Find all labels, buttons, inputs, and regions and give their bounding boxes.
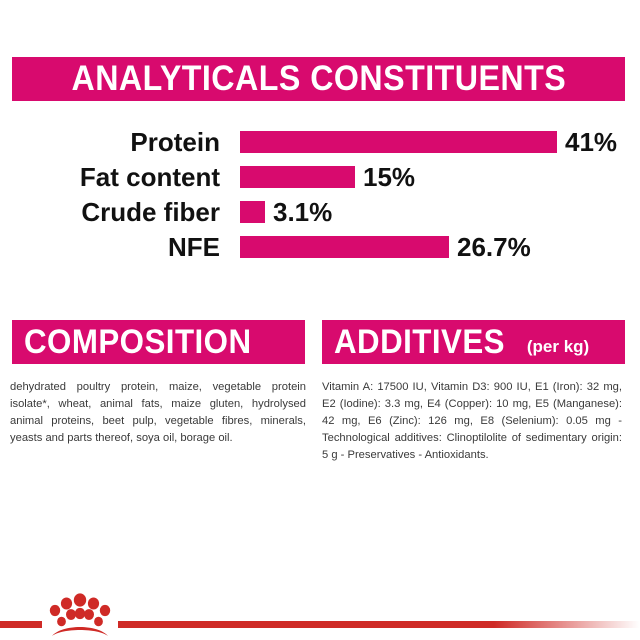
footer-brand-bar <box>0 575 640 640</box>
additives-subtitle-per-kg: (per kg) <box>527 337 589 357</box>
additives-title: ADDITIVES <box>334 320 505 364</box>
bar-value-crude-fiber: 3.1% <box>273 199 332 225</box>
bar-value-fat-content: 15% <box>363 164 415 190</box>
royal-canin-crown-icon <box>44 593 116 639</box>
bar-fill-fat-content <box>240 166 355 188</box>
footer-rule-left <box>0 621 42 628</box>
composition-banner: COMPOSITION <box>12 320 305 364</box>
product-info-panel: ANALYTICALS CONSTITUENTS Protein 41% Fat… <box>0 0 640 640</box>
bar-track-crude-fiber: 3.1% <box>240 199 640 225</box>
bar-label-crude-fiber: Crude fiber <box>0 199 220 225</box>
additives-details-text: Vitamin A: 17500 IU, Vitamin D3: 900 IU,… <box>322 379 622 464</box>
bar-label-protein: Protein <box>0 129 220 155</box>
bar-row: Crude fiber 3.1% <box>0 194 640 229</box>
bar-value-protein: 41% <box>565 129 617 155</box>
bar-row: NFE 26.7% <box>0 229 640 264</box>
bar-fill-nfe <box>240 236 449 258</box>
analyticals-constituents-title: ANALYTICALS CONSTITUENTS <box>71 57 566 101</box>
bar-fill-crude-fiber <box>240 201 265 223</box>
bar-value-nfe: 26.7% <box>457 234 531 260</box>
bar-row: Protein 41% <box>0 124 640 159</box>
bar-label-fat-content: Fat content <box>0 164 220 190</box>
bar-fill-protein <box>240 131 557 153</box>
additives-banner: ADDITIVES (per kg) <box>322 320 625 364</box>
bar-row: Fat content 15% <box>0 159 640 194</box>
analyticals-bar-chart: Protein 41% Fat content 15% Crude fiber … <box>0 124 640 284</box>
bar-track-fat-content: 15% <box>240 164 640 190</box>
composition-title: COMPOSITION <box>24 320 252 364</box>
footer-rule-right <box>118 621 640 628</box>
composition-ingredients-text: dehydrated poultry protein, maize, veget… <box>10 379 306 447</box>
bar-label-nfe: NFE <box>0 234 220 260</box>
bar-track-protein: 41% <box>240 129 640 155</box>
bar-track-nfe: 26.7% <box>240 234 640 260</box>
analyticals-constituents-banner: ANALYTICALS CONSTITUENTS <box>12 57 625 101</box>
